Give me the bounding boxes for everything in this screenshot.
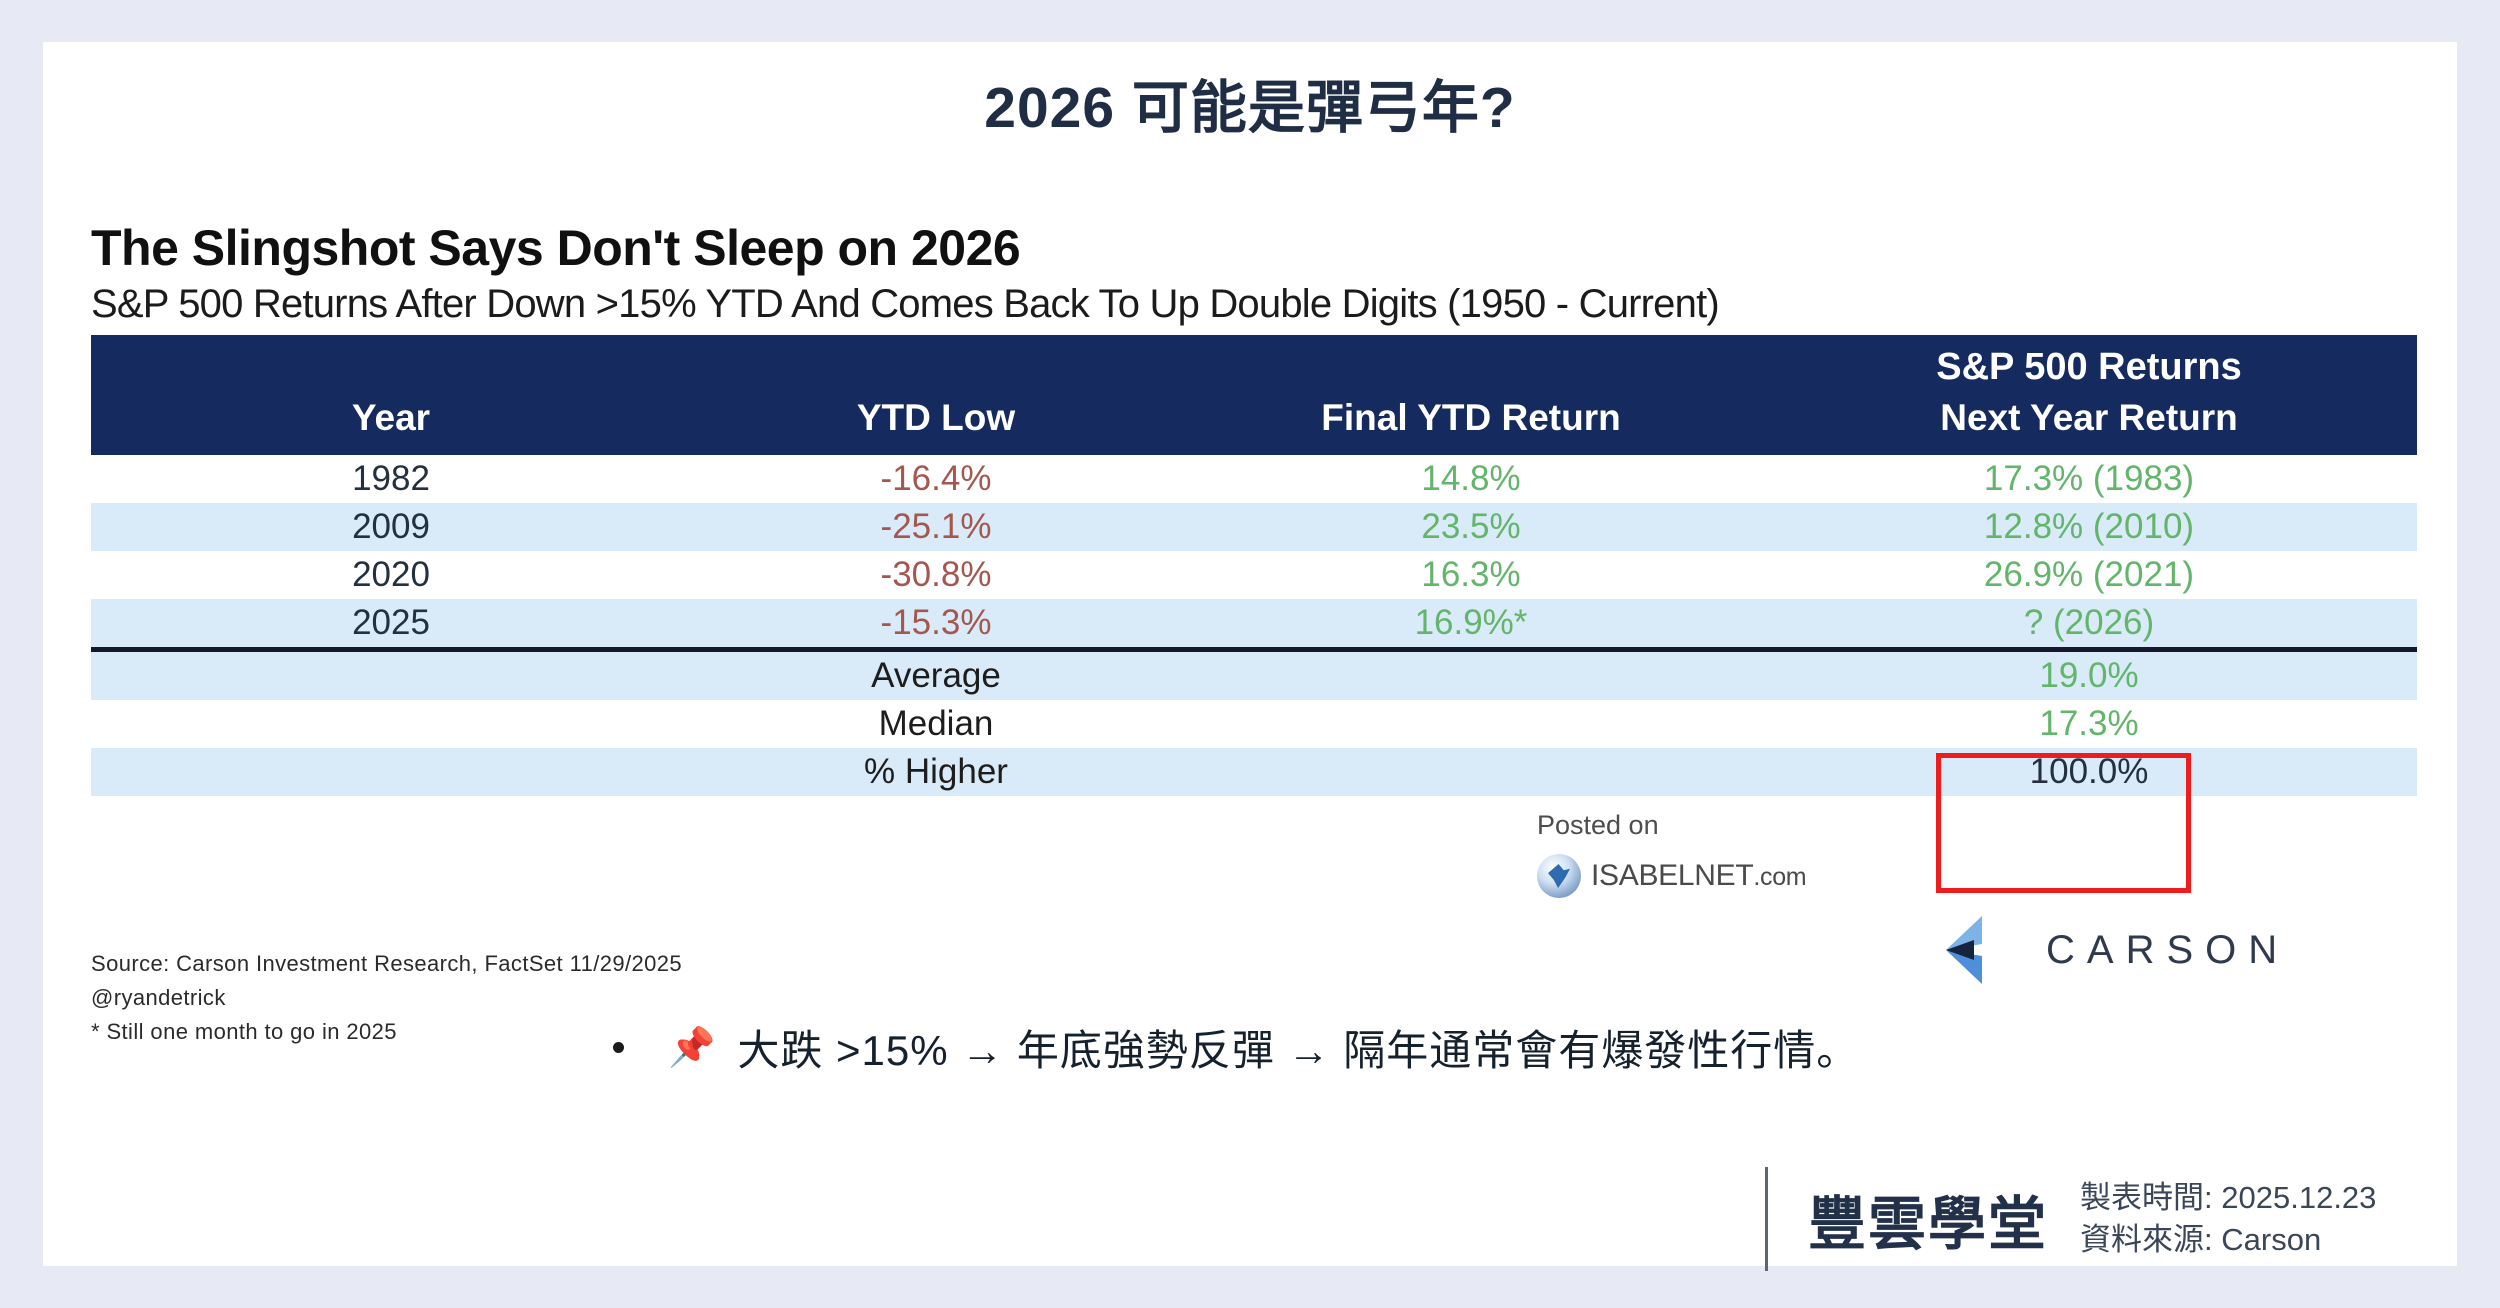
bullet-text: 大跌 >15% → 年底強勢反彈 → 隔年通常會有爆發性行情。: [737, 1017, 1859, 1078]
summary-value-average: 19.0%: [1761, 649, 2417, 700]
cell-ytd-low: -30.8%: [691, 551, 1181, 599]
brand-name: 豐雲學堂: [1808, 1177, 2048, 1261]
cell-next-year: 12.8% (2010): [1761, 503, 2417, 551]
summary-spacer-2: [1181, 700, 1761, 748]
group-header-spacer-3: [1181, 335, 1761, 393]
carson-wordmark: CARSON: [2046, 928, 2289, 973]
summary-label: % Higher: [691, 748, 1181, 796]
made-time-label: 製表時間:: [2080, 1180, 2213, 1215]
cell-final-ytd: 14.8%: [1181, 455, 1761, 503]
source-notes: Source: Carson Investment Research, Fact…: [91, 947, 682, 1049]
table-column-header-row: Year YTD Low Final YTD Return Next Year …: [91, 393, 2417, 455]
summary-row-pct-higher: % Higher 100.0%: [91, 748, 2417, 796]
cell-next-year: 26.9% (2021): [1761, 551, 2417, 599]
table-row: 2020 -30.8% 16.3% 26.9% (2021): [91, 551, 2417, 599]
carson-chevron-icon: [1938, 914, 2008, 986]
summary-row-median: Median 17.3%: [91, 700, 2417, 748]
table-row: 2025 -15.3% 16.9%* ? (2026): [91, 599, 2417, 650]
summary-value-median: 17.3%: [1761, 700, 2417, 748]
slide-card: 2026 可能是彈弓年? The Slingshot Says Don't Sl…: [43, 42, 2457, 1266]
chart-subheadline: S&P 500 Returns After Down >15% YTD And …: [91, 283, 2417, 325]
bullet-dot-icon: [613, 1042, 624, 1053]
group-header-spacer-1: [91, 335, 691, 393]
carson-logo: CARSON: [1938, 914, 2289, 986]
made-time-row: 製表時間: 2025.12.23: [2080, 1177, 2376, 1219]
page-title: 2026 可能是彈弓年?: [43, 62, 2457, 144]
isabelnet-label: ISABELNET.com: [1591, 859, 1806, 893]
summary-spacer-2: [1181, 649, 1761, 700]
carson-chart-block: The Slingshot Says Don't Sleep on 2026 S…: [91, 222, 2417, 796]
posted-on-label: Posted on: [1537, 810, 1659, 841]
made-time-value: 2025.12.23: [2221, 1180, 2376, 1215]
column-header-ytd-low: YTD Low: [691, 393, 1181, 455]
data-source-row: 資料來源: Carson: [2080, 1219, 2376, 1261]
pushpin-icon: 📌: [668, 1029, 715, 1067]
column-header-next-year: Next Year Return: [1761, 393, 2417, 455]
summary-value-pct-higher: 100.0%: [1761, 748, 2417, 796]
source-line-research: Source: Carson Investment Research, Fact…: [91, 947, 682, 981]
cell-next-year: 17.3% (1983): [1761, 455, 2417, 503]
table-row: 2009 -25.1% 23.5% 12.8% (2010): [91, 503, 2417, 551]
summary-label: Average: [691, 649, 1181, 700]
cell-year: 2020: [91, 551, 691, 599]
summary-spacer-2: [1181, 748, 1761, 796]
summary-label: Median: [691, 700, 1181, 748]
cell-final-ytd: 16.3%: [1181, 551, 1761, 599]
data-source-label: 資料來源:: [2080, 1222, 2213, 1257]
cell-year: 2009: [91, 503, 691, 551]
group-header-spacer-2: [691, 335, 1181, 393]
summary-spacer: [91, 649, 691, 700]
cell-final-ytd: 23.5%: [1181, 503, 1761, 551]
group-header-sp500-returns: S&P 500 Returns: [1761, 335, 2417, 393]
source-line-handle: @ryandetrick: [91, 981, 682, 1015]
cell-ytd-low: -15.3%: [691, 599, 1181, 650]
column-header-final-ytd: Final YTD Return: [1181, 393, 1761, 455]
brand-divider: [1765, 1167, 1768, 1271]
cell-ytd-low: -16.4%: [691, 455, 1181, 503]
summary-spacer: [91, 700, 691, 748]
isabelnet-credit: ISABELNET.com: [1537, 854, 1806, 898]
footer-branding: 豐雲學堂 製表時間: 2025.12.23 資料來源: Carson: [1765, 1164, 2376, 1274]
summary-row-average: Average 19.0%: [91, 649, 2417, 700]
cell-final-ytd: 16.9%*: [1181, 599, 1761, 650]
slide-page: 2026 可能是彈弓年? The Slingshot Says Don't Sl…: [0, 0, 2500, 1308]
isabelnet-logo-icon: [1537, 854, 1581, 898]
table-group-header-row: S&P 500 Returns: [91, 335, 2417, 393]
column-header-year: Year: [91, 393, 691, 455]
source-line-footnote: * Still one month to go in 2025: [91, 1015, 682, 1049]
chart-headline: The Slingshot Says Don't Sleep on 2026: [91, 222, 2417, 275]
summary-spacer: [91, 748, 691, 796]
bullet-note: 📌 大跌 >15% → 年底強勢反彈 → 隔年通常會有爆發性行情。: [613, 1017, 1859, 1078]
brand-metadata: 製表時間: 2025.12.23 資料來源: Carson: [2080, 1177, 2376, 1261]
cell-year: 1982: [91, 455, 691, 503]
cell-year: 2025: [91, 599, 691, 650]
table-row: 1982 -16.4% 14.8% 17.3% (1983): [91, 455, 2417, 503]
cell-next-year: ? (2026): [1761, 599, 2417, 650]
cell-ytd-low: -25.1%: [691, 503, 1181, 551]
data-source-value: Carson: [2221, 1222, 2321, 1257]
returns-table: S&P 500 Returns Year YTD Low Final YTD R…: [91, 335, 2417, 796]
